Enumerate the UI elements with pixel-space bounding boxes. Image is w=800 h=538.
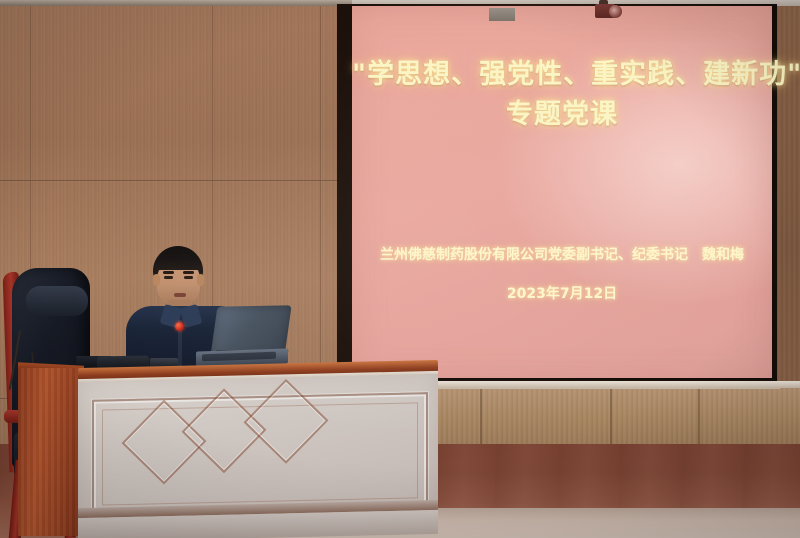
slide-title-line1: "学思想、强党性、重实践、建新功" — [352, 59, 800, 90]
person-eye-left — [164, 276, 173, 279]
person-eyebrow-right — [183, 271, 194, 274]
person-eyebrow-left — [163, 271, 174, 274]
person-ear-right — [197, 274, 204, 286]
photo-scene: "学思想、强党性、重实践、建新功" 专题党课 兰州佛慈制药股份有限公司党委副书记… — [0, 0, 800, 538]
person-eye-right — [184, 276, 193, 279]
person-hair-fringe — [155, 256, 202, 270]
slide-presenter: 兰州佛慈制药股份有限公司党委副书记、纪委书记 魏和梅 — [352, 245, 772, 265]
laptop-computer — [196, 306, 288, 364]
projector-lens — [609, 5, 622, 18]
wainscot-seam — [610, 386, 612, 448]
slide-title-line2: 专题党课 — [352, 96, 772, 134]
person-ear-left — [153, 274, 160, 286]
red-lapel-badge — [175, 322, 184, 331]
screen-mount-bracket — [489, 8, 515, 21]
slide-date: 2023年7月12日 — [352, 283, 772, 303]
slide-title: "学思想、强党性、重实践、建新功" 专题党课 — [352, 56, 772, 134]
chair-headrest — [26, 286, 88, 316]
wainscot-seam — [480, 386, 482, 448]
ceiling-projector — [593, 0, 623, 19]
lectern-side — [18, 368, 82, 536]
wainscot-seam — [698, 386, 700, 448]
lectern — [18, 364, 438, 538]
person-mouth — [174, 293, 186, 297]
